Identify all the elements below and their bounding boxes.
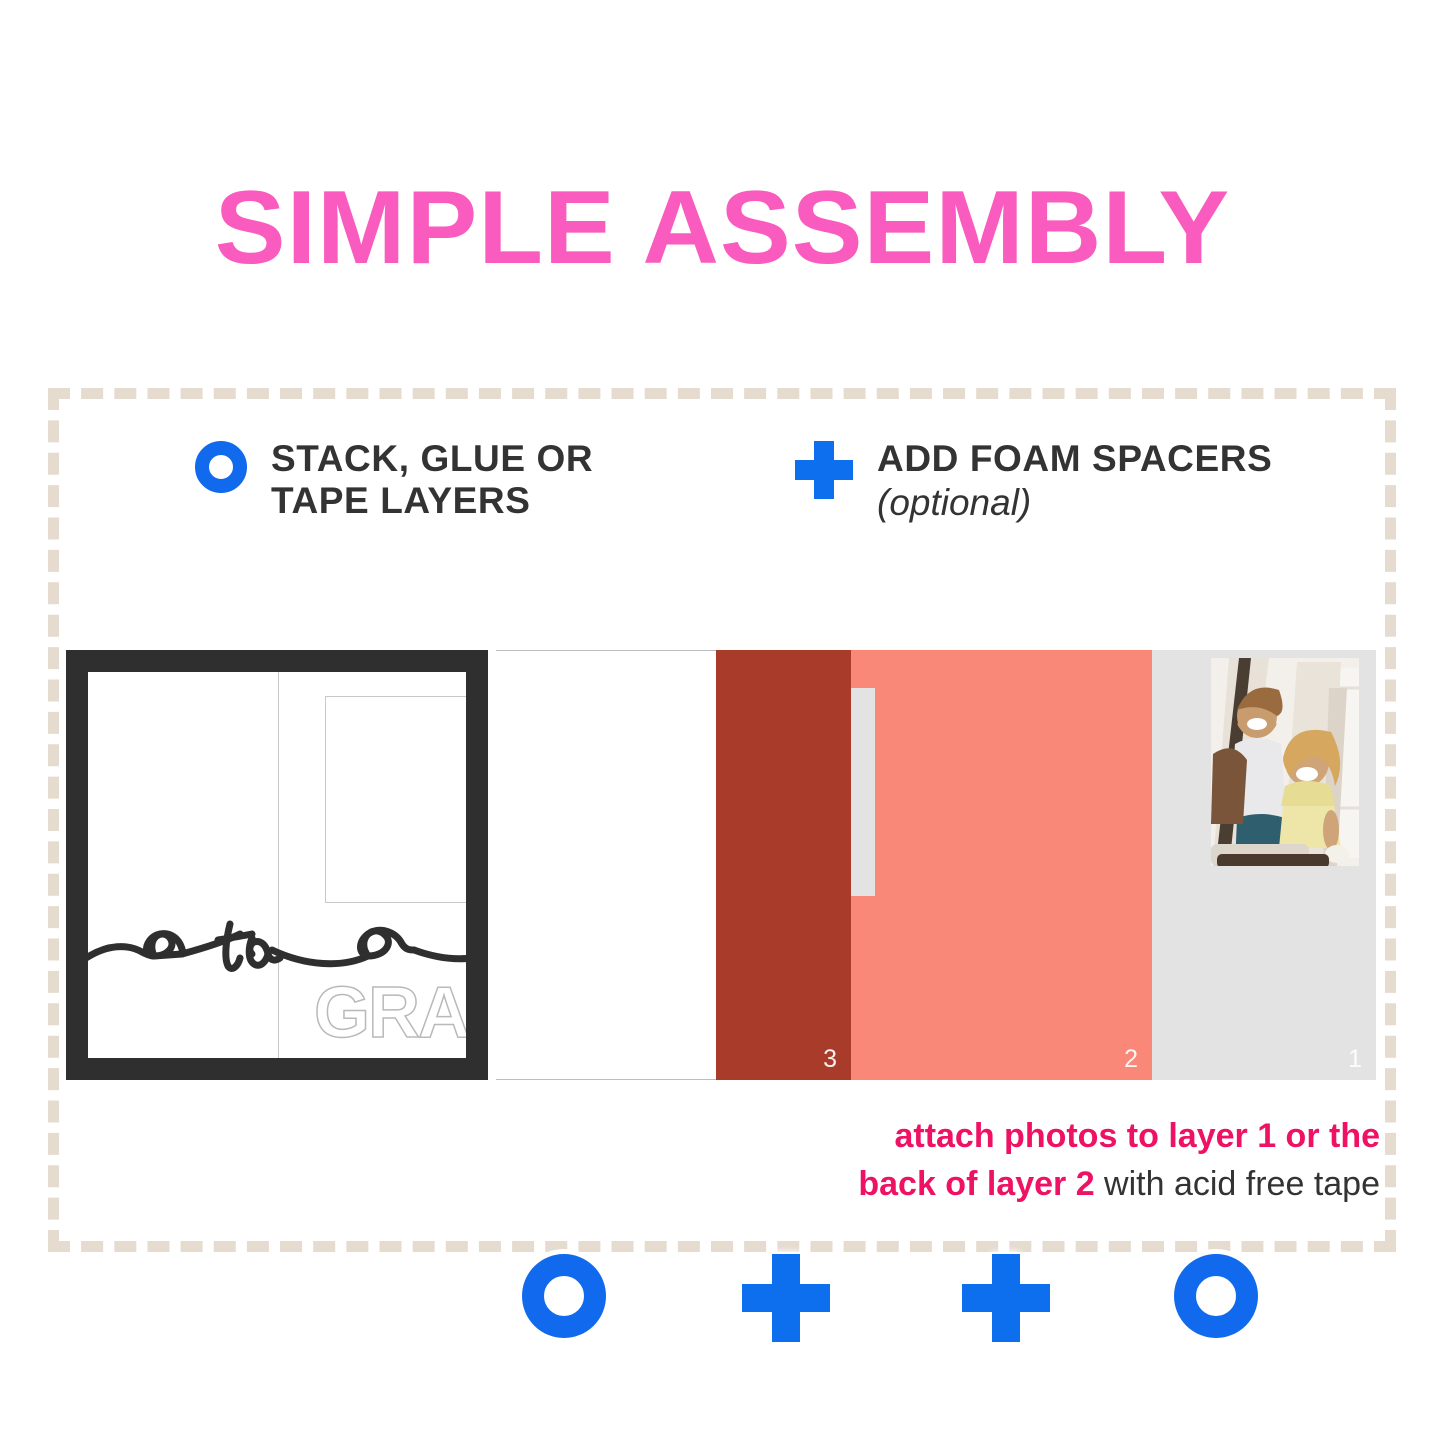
marker-ring-icon — [522, 1254, 606, 1338]
caption-line-1: attach photos to layer 1 or the — [500, 1112, 1380, 1160]
layer-4-top-edge — [496, 650, 716, 651]
cover-grandkids-outline: GRANDKIDS — [314, 972, 488, 1054]
legend-text-block: STACK, GLUE OR TAPE LAYERS — [271, 438, 593, 522]
caption-line-2: back of layer 2 with acid free tape — [500, 1160, 1380, 1208]
layer-number: 3 — [823, 1045, 837, 1074]
caption-highlight-2: back of layer 2 — [858, 1165, 1094, 1203]
layer-4-white-inner — [496, 650, 716, 1080]
blue-plus-icon — [795, 441, 853, 499]
layer-number: 1 — [1348, 1045, 1362, 1074]
layer-4-bottom-edge — [496, 1079, 716, 1080]
caption-plain: with acid free tape — [1095, 1165, 1380, 1203]
marker-ring-icon — [1174, 1254, 1258, 1338]
marker-plus-icon — [962, 1254, 1050, 1342]
legend-line-1: STACK, GLUE OR — [271, 438, 593, 480]
blue-ring-icon — [195, 441, 247, 493]
legend-text-block: ADD FOAM SPACERS (optional) — [877, 438, 1272, 526]
page-title: SIMPLE ASSEMBLY — [0, 176, 1445, 280]
cover-fold-line — [278, 672, 279, 1058]
legend-line-2: TAPE LAYERS — [271, 480, 593, 522]
legend-item-stack-glue-tape: STACK, GLUE OR TAPE LAYERS — [195, 438, 593, 522]
layer-number: 2 — [1124, 1045, 1138, 1074]
marker-plus-icon — [742, 1254, 830, 1342]
layer-5-black-cover: GRANDKIDS — [66, 650, 488, 1080]
photo-two-children-laughing — [1211, 658, 1376, 888]
legend-item-foam-spacers: ADD FOAM SPACERS (optional) — [795, 438, 1272, 526]
cover-photo-window — [325, 696, 468, 903]
legend-line-2: (optional) — [877, 480, 1272, 526]
caption: attach photos to layer 1 or the back of … — [500, 1112, 1380, 1208]
layer-stack-diagram: 1 GRANDKIDS 2 GRANDKIDS 3 GRANDKIDS — [66, 650, 1376, 1080]
legend-line-1: ADD FOAM SPACERS — [877, 438, 1272, 480]
caption-highlight-1: attach photos to layer 1 or the — [894, 1117, 1380, 1155]
